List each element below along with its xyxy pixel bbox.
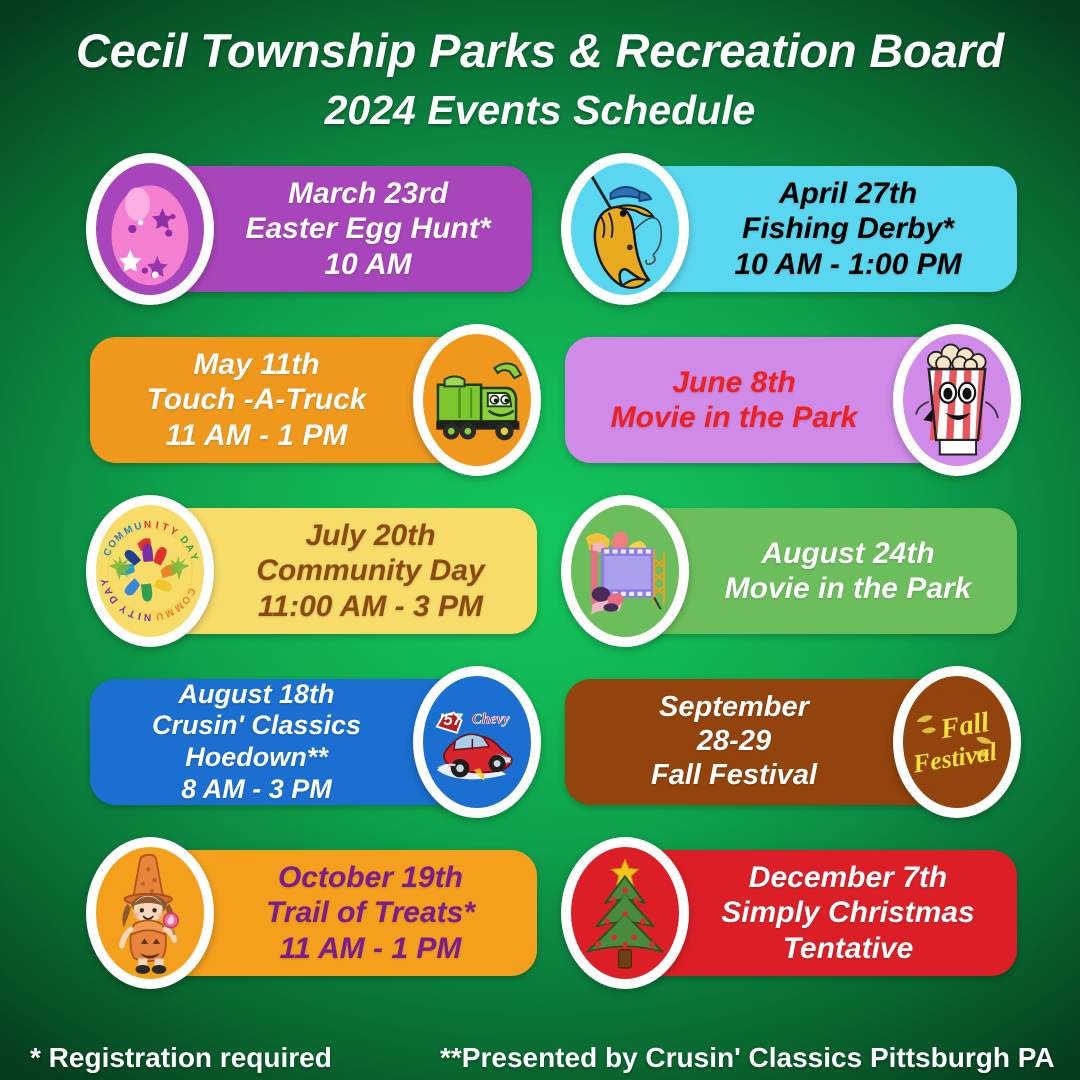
event-date: December 7th <box>749 860 947 895</box>
event-schedule-poster: Cecil Township Parks & Recreation Board … <box>0 0 1080 1080</box>
event-icon-badge-fall-festival: Fall Festival <box>893 666 1021 818</box>
easter-egg-icon <box>96 163 204 295</box>
event-icon-badge-fishing-derby <box>561 153 689 305</box>
event-date: June 8th <box>672 365 795 400</box>
event-name: Simply Christmas <box>721 895 974 930</box>
event-icon-badge-crusin-classics-hoedown: '57 Chevy <box>413 666 541 818</box>
event-name: 28-29 <box>697 725 771 759</box>
event-card-community-day[interactable]: C O M M U N I T Y D A Y C O M M U N I T <box>90 508 537 634</box>
event-name: Tentative <box>783 931 914 966</box>
event-icon-badge-movie-in-the-park-june <box>893 324 1021 476</box>
svg-text:N: N <box>144 611 152 622</box>
popcorn-icon <box>903 334 1011 466</box>
presenter-note: **Presented by Crusin' Classics Pittsbur… <box>440 1042 1055 1074</box>
fall-festival-logo-icon: Fall Festival <box>903 676 1011 808</box>
christmas-tree-icon <box>571 847 679 979</box>
event-icon-badge-simply-christmas <box>561 837 689 989</box>
event-name: Trail of Treats* <box>266 895 475 930</box>
event-name: Crusin' Classics <box>152 710 361 742</box>
events-row: May 11thTouch -A-Truck11 AM - 1 PM June … <box>0 337 1080 508</box>
event-name: Fishing Derby* <box>742 211 954 246</box>
event-card-crusin-classics-hoedown[interactable]: August 18thCrusin' ClassicsHoedown**8 AM… <box>90 679 537 805</box>
event-card-movie-in-the-park-august[interactable]: August 24thMovie in the Park <box>565 508 1017 634</box>
page-title: Cecil Township Parks & Recreation Board <box>0 26 1080 75</box>
svg-text:Chevy: Chevy <box>472 711 510 727</box>
fish-rod-icon <box>571 163 679 295</box>
event-icon-badge-easter-egg-hunt <box>86 153 214 305</box>
poster-header: Cecil Township Parks & Recreation Board … <box>0 26 1080 132</box>
event-card-simply-christmas[interactable]: December 7thSimply ChristmasTentative <box>565 850 1017 976</box>
event-date: August 18th <box>178 679 334 711</box>
event-card-touch-a-truck[interactable]: May 11thTouch -A-Truck11 AM - 1 PM <box>90 337 537 463</box>
page-subtitle: 2024 Events Schedule <box>0 89 1080 132</box>
event-icon-badge-community-day: C O M M U N I T Y D A Y C O M M U N I T <box>86 495 214 647</box>
events-grid: March 23rdEaster Egg Hunt*10 AM April 27… <box>0 166 1080 1021</box>
event-name: Touch -A-Truck <box>146 382 366 417</box>
pumpkin-costume-girl-icon <box>96 847 204 979</box>
event-name: Movie in the Park <box>611 400 858 435</box>
event-name: Fall Festival <box>651 759 817 793</box>
events-row: October 19thTrail of Treats*11 AM - 1 PM… <box>0 850 1080 1021</box>
event-icon-badge-trail-of-treats <box>86 837 214 989</box>
event-date: July 20th <box>305 518 435 553</box>
event-date: April 27th <box>779 176 917 211</box>
event-name: Easter Egg Hunt* <box>245 211 490 246</box>
event-time: 10 AM - 1:00 PM <box>734 247 961 282</box>
event-time: 11 AM - 1 PM <box>280 931 462 966</box>
event-date: August 24th <box>761 536 934 571</box>
event-card-easter-egg-hunt[interactable]: March 23rdEaster Egg Hunt*10 AM <box>90 166 532 292</box>
event-name: Movie in the Park <box>725 571 972 606</box>
events-row: August 18thCrusin' ClassicsHoedown**8 AM… <box>0 679 1080 850</box>
event-icon-badge-touch-a-truck <box>413 324 541 476</box>
event-time: 8 AM - 3 PM <box>181 774 332 806</box>
event-date: October 19th <box>278 860 463 895</box>
outdoor-movie-screen-icon <box>571 505 679 637</box>
svg-text:N: N <box>144 520 152 531</box>
event-name: Community Day <box>256 553 484 588</box>
event-card-movie-in-the-park-june[interactable]: June 8thMovie in the Park <box>565 337 1017 463</box>
community-day-logo-icon: C O M M U N I T Y D A Y C O M M U N I T <box>96 505 204 637</box>
event-date: September <box>659 691 809 725</box>
events-row: March 23rdEaster Egg Hunt*10 AM April 27… <box>0 166 1080 337</box>
event-name: Hoedown** <box>185 742 328 774</box>
event-icon-badge-movie-in-the-park-august <box>561 495 689 647</box>
events-row: C O M M U N I T Y D A Y C O M M U N I T <box>0 508 1080 679</box>
event-date: March 23rd <box>288 176 448 211</box>
registration-note: * Registration required <box>30 1042 332 1074</box>
svg-text:'57: '57 <box>439 710 463 729</box>
event-card-fishing-derby[interactable]: April 27thFishing Derby*10 AM - 1:00 PM <box>565 166 1017 292</box>
classic-car-57-chevy-icon: '57 Chevy <box>423 676 531 808</box>
event-card-fall-festival[interactable]: September28-29Fall Festival Fall Festiva… <box>565 679 1017 805</box>
event-time: 11 AM - 1 PM <box>166 418 348 453</box>
event-date: May 11th <box>193 347 319 382</box>
event-time: 11:00 AM - 3 PM <box>258 589 483 624</box>
garbage-truck-icon <box>423 334 531 466</box>
event-time: 10 AM <box>324 247 411 282</box>
event-card-trail-of-treats[interactable]: October 19thTrail of Treats*11 AM - 1 PM <box>90 850 537 976</box>
